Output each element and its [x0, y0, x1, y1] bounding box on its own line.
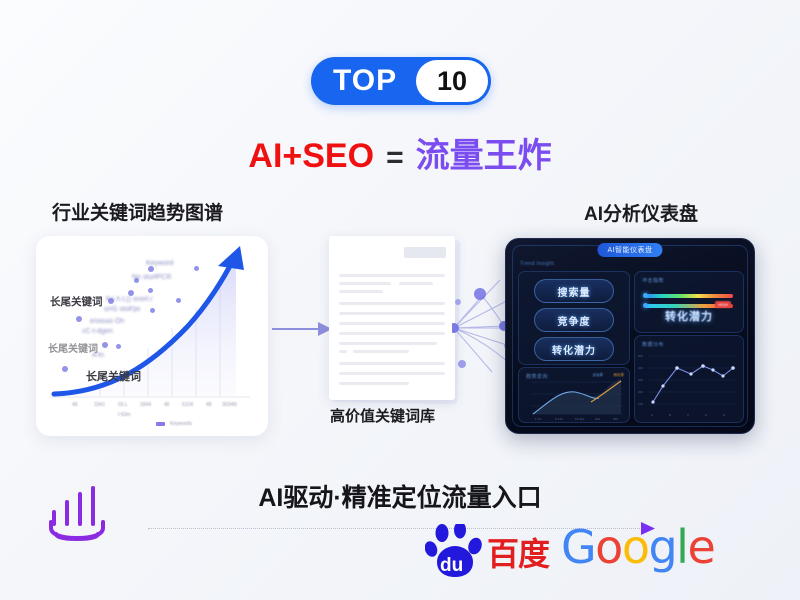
bar-chart-icon — [44, 484, 110, 546]
x-axis-caption: t 63m — [118, 412, 131, 418]
gauge-handle-primary[interactable] — [643, 293, 648, 298]
scatter-dot — [62, 366, 68, 372]
svg-text:30d: 30d — [613, 417, 618, 421]
area-legend-1: 点击率 — [593, 373, 604, 378]
baidu-du-text: du — [440, 555, 463, 576]
scatter-dot — [150, 308, 155, 313]
scatter-dot — [194, 266, 199, 271]
x-tick: 48 — [206, 402, 212, 408]
impact-gauge-panel: 冲击指数 HIGH 转化潜力 — [634, 271, 744, 333]
scatter-dot — [134, 278, 139, 283]
line-panel-chart: 600400 300200100 ABC DE — [635, 336, 743, 422]
keyword-tag-3: 长尾关键词 — [86, 368, 141, 384]
x-tick: 3341 — [94, 402, 105, 408]
keyword-tag-1: 长尾关键词 — [50, 294, 103, 309]
google-letter: l — [676, 520, 687, 574]
svg-text:D: D — [705, 413, 708, 417]
legend-swatch — [156, 422, 165, 426]
distribution-line-panel: 数据分布 600400 300200100 — [634, 335, 744, 423]
gauge-alert-tag: HIGH — [715, 301, 731, 308]
x-tick: 03.L — [118, 402, 128, 408]
blur-word-7: A'tn — [92, 352, 104, 359]
keyword-document — [329, 236, 455, 400]
headline-left: AI+SEO — [248, 137, 374, 175]
dashboard-subtitle: Trend Insight — [520, 261, 554, 267]
headline-right: 流量王炸 — [416, 137, 552, 175]
top-rank-badge: TOP 10 — [311, 57, 491, 105]
ai-dashboard: AI智能仪表盘 Trend Insight 搜索量 竞争度 转化潜力 趋势走向 … — [505, 238, 755, 434]
svg-text:22d: 22d — [595, 417, 600, 421]
scatter-dot — [148, 266, 154, 272]
scatter-dot — [176, 298, 181, 303]
google-letter: o — [622, 520, 649, 574]
scatter-dot — [116, 344, 121, 349]
metric-pill-competition[interactable]: 竞争度 — [534, 308, 614, 332]
svg-text:1-7d: 1-7d — [535, 417, 541, 421]
baidu-paw-icon: du — [425, 524, 487, 580]
svg-text:E: E — [723, 413, 725, 417]
right-section-caption: AI分析仪表盘 — [584, 199, 698, 226]
headline-equals: = — [386, 141, 404, 174]
baidu-chinese-text: 百度 — [487, 538, 549, 570]
svg-text:600: 600 — [638, 354, 643, 358]
gauge-overlay-label: 转化潜力 — [635, 308, 743, 324]
scatter-dot — [128, 290, 134, 296]
blur-word-5: e/oouio Oh — [90, 318, 124, 325]
baidu-logo: du 百度 — [425, 524, 555, 580]
google-letter: g — [648, 520, 676, 574]
blur-word-6: cC-t-dgen — [82, 328, 113, 335]
flow-arrow-icon — [272, 318, 332, 340]
x-tick: 46 — [164, 402, 170, 408]
left-section-caption: 行业关键词趋势图谱 — [52, 198, 223, 225]
svg-text:100: 100 — [638, 402, 643, 406]
metric-pill-conversion[interactable]: 转化潜力 — [534, 337, 614, 361]
area-legend-2: 转化率 — [614, 373, 625, 378]
doc-section-caption: 高价值关键词库 — [330, 405, 435, 426]
svg-text:300: 300 — [638, 378, 643, 382]
trend-area-panel: 趋势走向 1-7d8-14d 15-21d22d30d 点击率 转化率 — [518, 367, 630, 423]
legend-label: Keywords — [170, 421, 192, 427]
svg-text:C: C — [687, 413, 690, 417]
metric-pills-panel: 搜索量 竞争度 转化潜力 — [518, 271, 630, 365]
x-tick: 1844 — [140, 402, 151, 408]
svg-text:B: B — [669, 413, 671, 417]
scatter-dot — [102, 342, 108, 348]
scatter-dot — [148, 288, 153, 293]
google-letter: e — [687, 520, 714, 574]
page-title: AI+SEO=流量王炸 — [0, 128, 800, 177]
gauge-panel-title: 冲击指数 — [642, 277, 664, 284]
keyword-tag-2: 长尾关键词 — [48, 340, 98, 355]
google-letter: G — [561, 520, 595, 574]
x-tick: 3034N — [222, 402, 237, 408]
svg-text:A: A — [651, 413, 653, 417]
keyword-trend-card: 长尾关键词 长尾关键词 长尾关键词 Keyword No sturfPCR Kn… — [36, 236, 268, 436]
slide-root: TOP 10 AI+SEO=流量王炸 行业关键词趋势图谱 AI分析仪表盘 — [0, 0, 800, 600]
top-label: TOP — [333, 66, 397, 96]
svg-text:400: 400 — [638, 366, 643, 370]
scatter-dot — [76, 316, 82, 322]
x-tick: 48 — [72, 402, 78, 408]
blur-word-4: o/rG stoll'pc — [104, 306, 141, 313]
area-panel-chart: 1-7d8-14d 15-21d22d30d — [519, 368, 629, 422]
scatter-dot — [108, 298, 114, 304]
gauge-bar-primary — [645, 294, 733, 298]
dashboard-header-badge: AI智能仪表盘 — [597, 243, 662, 257]
footer-title: AI驱动·精准定位流量入口 — [0, 478, 800, 514]
top-number: 10 — [416, 60, 488, 102]
doc-header-block — [404, 247, 446, 258]
google-logo: Google — [561, 524, 714, 570]
x-tick: 5104 — [182, 402, 193, 408]
svg-text:15-21d: 15-21d — [575, 417, 585, 421]
svg-text:8-14d: 8-14d — [555, 417, 563, 421]
google-letter: o — [595, 520, 622, 574]
metric-pill-search-volume[interactable]: 搜索量 — [534, 279, 614, 303]
svg-text:200: 200 — [638, 390, 643, 394]
